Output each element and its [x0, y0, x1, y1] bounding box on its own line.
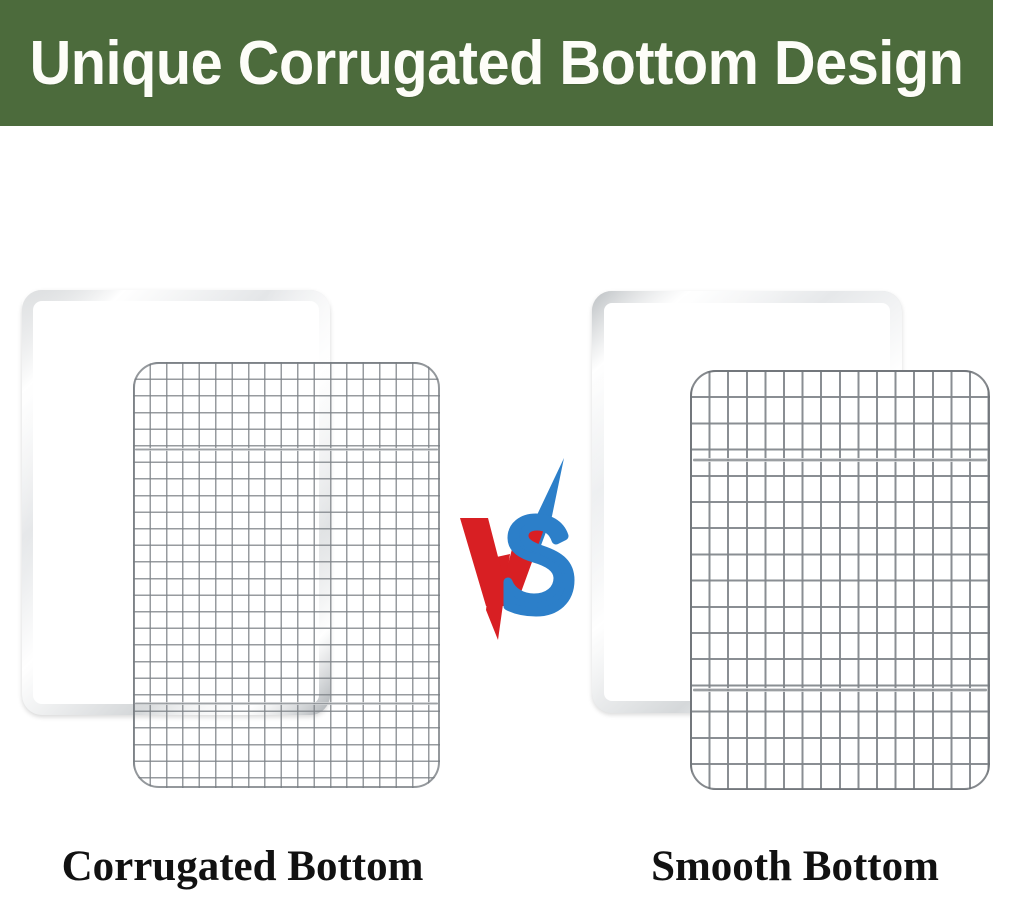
versus-badge [452, 450, 578, 640]
rack-frame [133, 362, 440, 788]
wire-cooling-rack-left [133, 362, 440, 788]
page-title: Unique Corrugated Bottom Design [35, 0, 958, 126]
header-banner: Unique Corrugated Bottom Design [0, 0, 993, 126]
rack-frame [690, 370, 990, 790]
caption-smooth-bottom: Smooth Bottom [575, 838, 1010, 894]
product-comparison-image: Unique Corrugated Bottom Design [0, 0, 1010, 900]
vs-icon [452, 450, 578, 640]
caption-corrugated-bottom: Corrugated Bottom [10, 838, 475, 894]
wire-cooling-rack-right [690, 370, 990, 790]
